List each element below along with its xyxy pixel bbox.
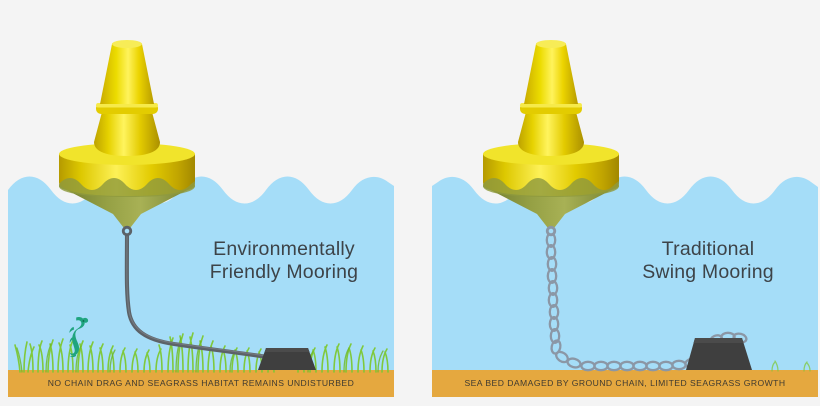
- diagram-canvas: Environmentally Friendly Mooring NO CHAI…: [0, 0, 820, 406]
- panel-caption-right: SEA BED DAMAGED BY GROUND CHAIN, LIMITED…: [432, 378, 818, 388]
- anchor-block-right: [686, 338, 752, 370]
- scene-right: Traditional Swing Mooring SEA BED DAMAGE…: [432, 0, 818, 406]
- panel-caption-left: NO CHAIN DRAG AND SEAGRASS HABITAT REMAI…: [8, 378, 394, 388]
- panel-title-right: Traditional Swing Mooring: [608, 238, 808, 284]
- panel-title-left-line1: Environmentally: [213, 238, 355, 260]
- scene-right-graphics: [432, 0, 818, 406]
- scene-left: Environmentally Friendly Mooring NO CHAI…: [8, 0, 394, 406]
- panel-title-left: Environmentally Friendly Mooring: [184, 238, 384, 284]
- panel-title-right-line1: Traditional: [662, 238, 755, 260]
- panel-environmentally-friendly-mooring: Environmentally Friendly Mooring NO CHAI…: [8, 0, 394, 406]
- scene-left-graphics: [8, 0, 394, 406]
- anchor-block-left: [258, 348, 316, 370]
- panel-title-left-line2: Friendly Mooring: [210, 261, 358, 283]
- panel-title-right-line2: Swing Mooring: [642, 261, 774, 283]
- panel-traditional-swing-mooring: Traditional Swing Mooring SEA BED DAMAGE…: [432, 0, 818, 406]
